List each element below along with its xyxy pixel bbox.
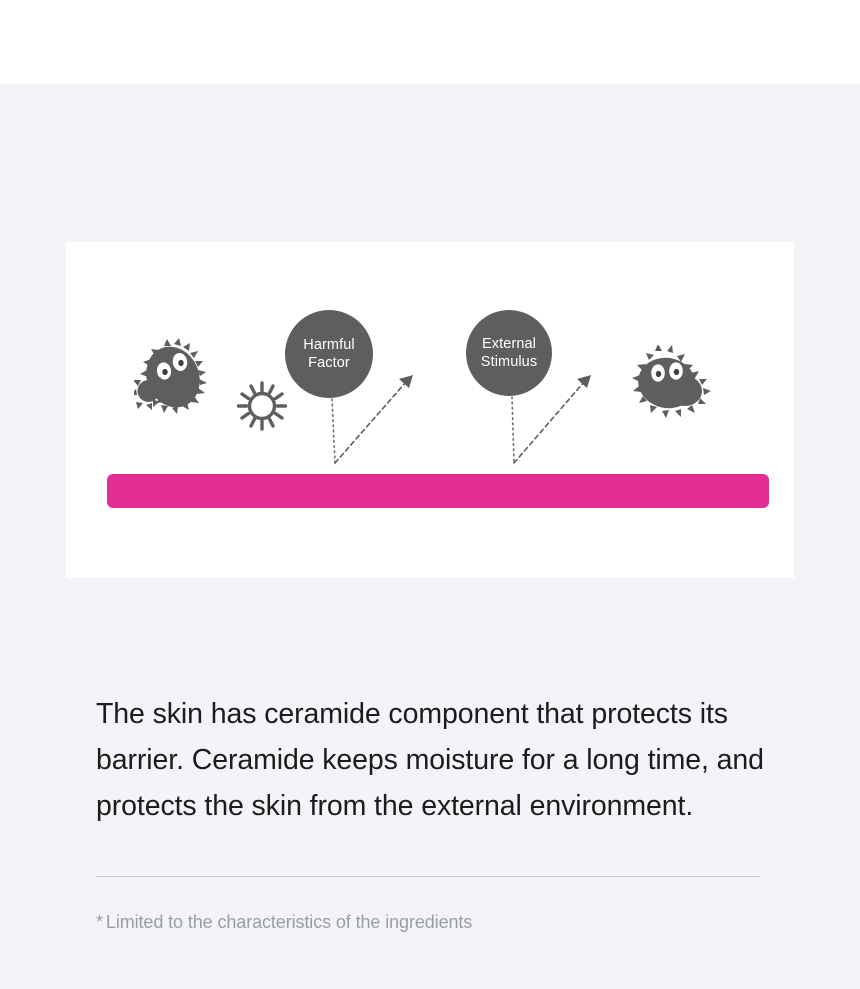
bubble-harmful-factor-text: Harmful Factor <box>303 336 354 372</box>
skin-barrier-bar <box>107 474 769 508</box>
footnote: *Limited to the characteristics of the i… <box>96 908 768 936</box>
bacteria-large-icon <box>625 345 717 428</box>
bubble-harmful-factor-line1: Harmful <box>303 336 354 354</box>
illustration-card: Harmful Factor External Stimulus <box>66 242 794 578</box>
bubble-external-stimulus-line2: Stimulus <box>481 353 537 371</box>
bubble-external-stimulus: External Stimulus <box>466 310 552 396</box>
description-paragraph: The skin has ceramide component that pro… <box>96 691 768 829</box>
footnote-divider <box>96 876 760 877</box>
bubble-harmful-factor: Harmful Factor <box>285 310 373 398</box>
virus-ring-icon <box>237 380 287 437</box>
page-root: Harmful Factor External Stimulus The ski… <box>0 0 860 989</box>
bubble-harmful-factor-line2: Factor <box>303 354 354 372</box>
bubble-external-stimulus-line1: External <box>481 335 537 353</box>
footnote-text: Limited to the characteristics of the in… <box>106 912 472 932</box>
footnote-marker: * <box>96 912 103 932</box>
bubble-external-stimulus-text: External Stimulus <box>481 335 537 371</box>
bacteria-cluster-icon <box>134 338 212 419</box>
